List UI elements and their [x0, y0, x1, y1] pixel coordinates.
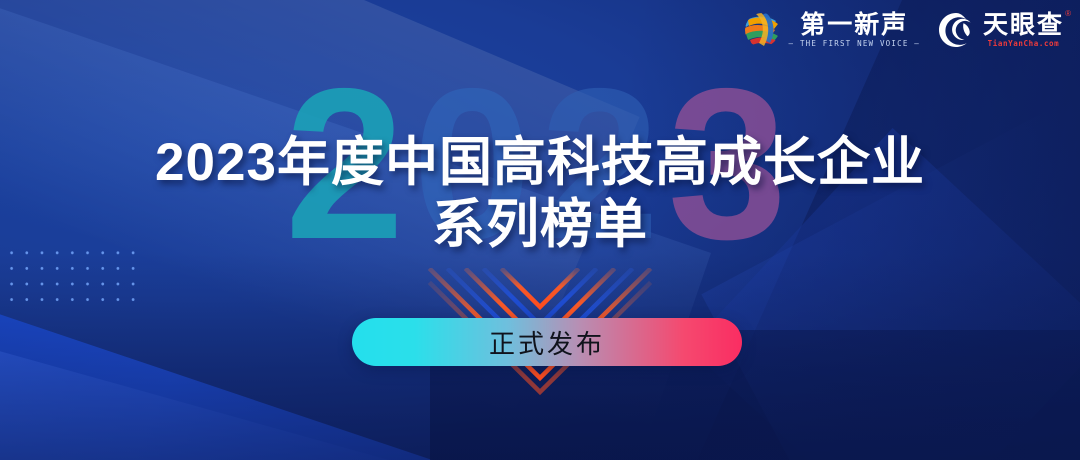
promo-banner: 2023: [0, 0, 1080, 460]
logo-diyixinsheng-name: 第一新声: [800, 12, 908, 38]
title-line-2: 系列榜单: [0, 194, 1080, 256]
release-status-label: 正式发布: [489, 324, 605, 361]
logo-group: 第一新声 — THE FIRST NEW VOICE — 天眼查 ®: [742, 10, 1064, 50]
title-line-1: 2023年度中国高科技高成长企业: [0, 132, 1080, 194]
page-title: 2023年度中国高科技高成长企业 系列榜单: [0, 132, 1080, 256]
swirl-globe-icon: [742, 10, 782, 50]
logo-tianyancha[interactable]: 天眼查 ® TianYanCha.com: [936, 10, 1064, 50]
logo-tianyancha-name-wrap: 天眼查 ®: [983, 12, 1064, 38]
logo-diyixinsheng-tagline: — THE FIRST NEW VOICE —: [789, 38, 920, 49]
logo-diyixinsheng[interactable]: 第一新声 — THE FIRST NEW VOICE —: [742, 10, 920, 50]
release-status-pill[interactable]: 正式发布: [352, 318, 742, 366]
logo-diyixinsheng-text: 第一新声 — THE FIRST NEW VOICE —: [789, 12, 920, 49]
logo-tianyancha-tagline: TianYanCha.com: [988, 38, 1060, 49]
registered-mark-icon: ®: [1065, 10, 1071, 18]
camera-aperture-icon: [936, 10, 976, 50]
logo-tianyancha-text: 天眼查 ® TianYanCha.com: [983, 12, 1064, 49]
logo-tianyancha-name: 天眼查: [983, 11, 1064, 39]
